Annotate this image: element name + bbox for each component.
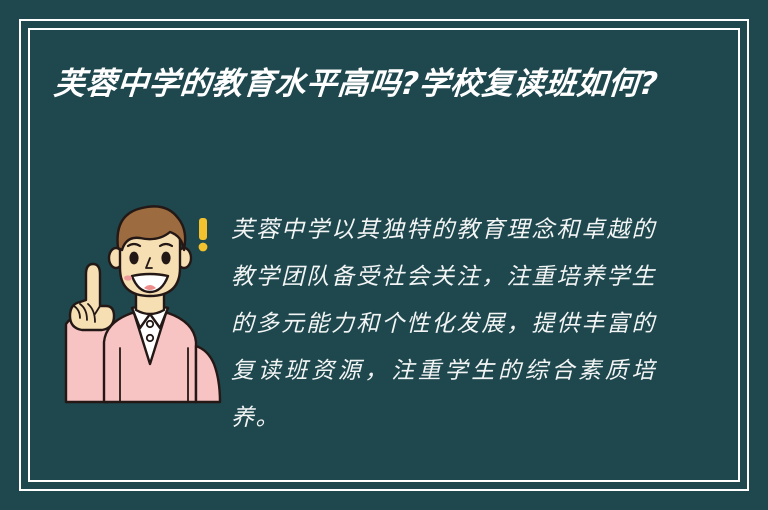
left-eye — [129, 252, 138, 265]
body-paragraph: 芙蓉中学以其独特的教育理念和卓越的教学团队备受社会关注，注重培养学生的多元能力和… — [231, 207, 656, 442]
illustration-container — [62, 196, 238, 404]
left-cheek-blush — [124, 275, 132, 280]
exclamation-mark-icon — [199, 218, 208, 251]
shirt-button-1 — [147, 321, 153, 327]
shirt-button-2 — [147, 335, 153, 341]
right-sleeve — [196, 346, 220, 402]
poster-canvas: 芙蓉中学的教育水平高吗?学校复读班如何? — [0, 0, 768, 510]
page-title: 芙蓉中学的教育水平高吗?学校复读班如何? — [52, 62, 716, 107]
right-eye — [161, 252, 170, 265]
pointing-hand — [70, 264, 114, 330]
pointing-student-illustration — [62, 196, 238, 404]
